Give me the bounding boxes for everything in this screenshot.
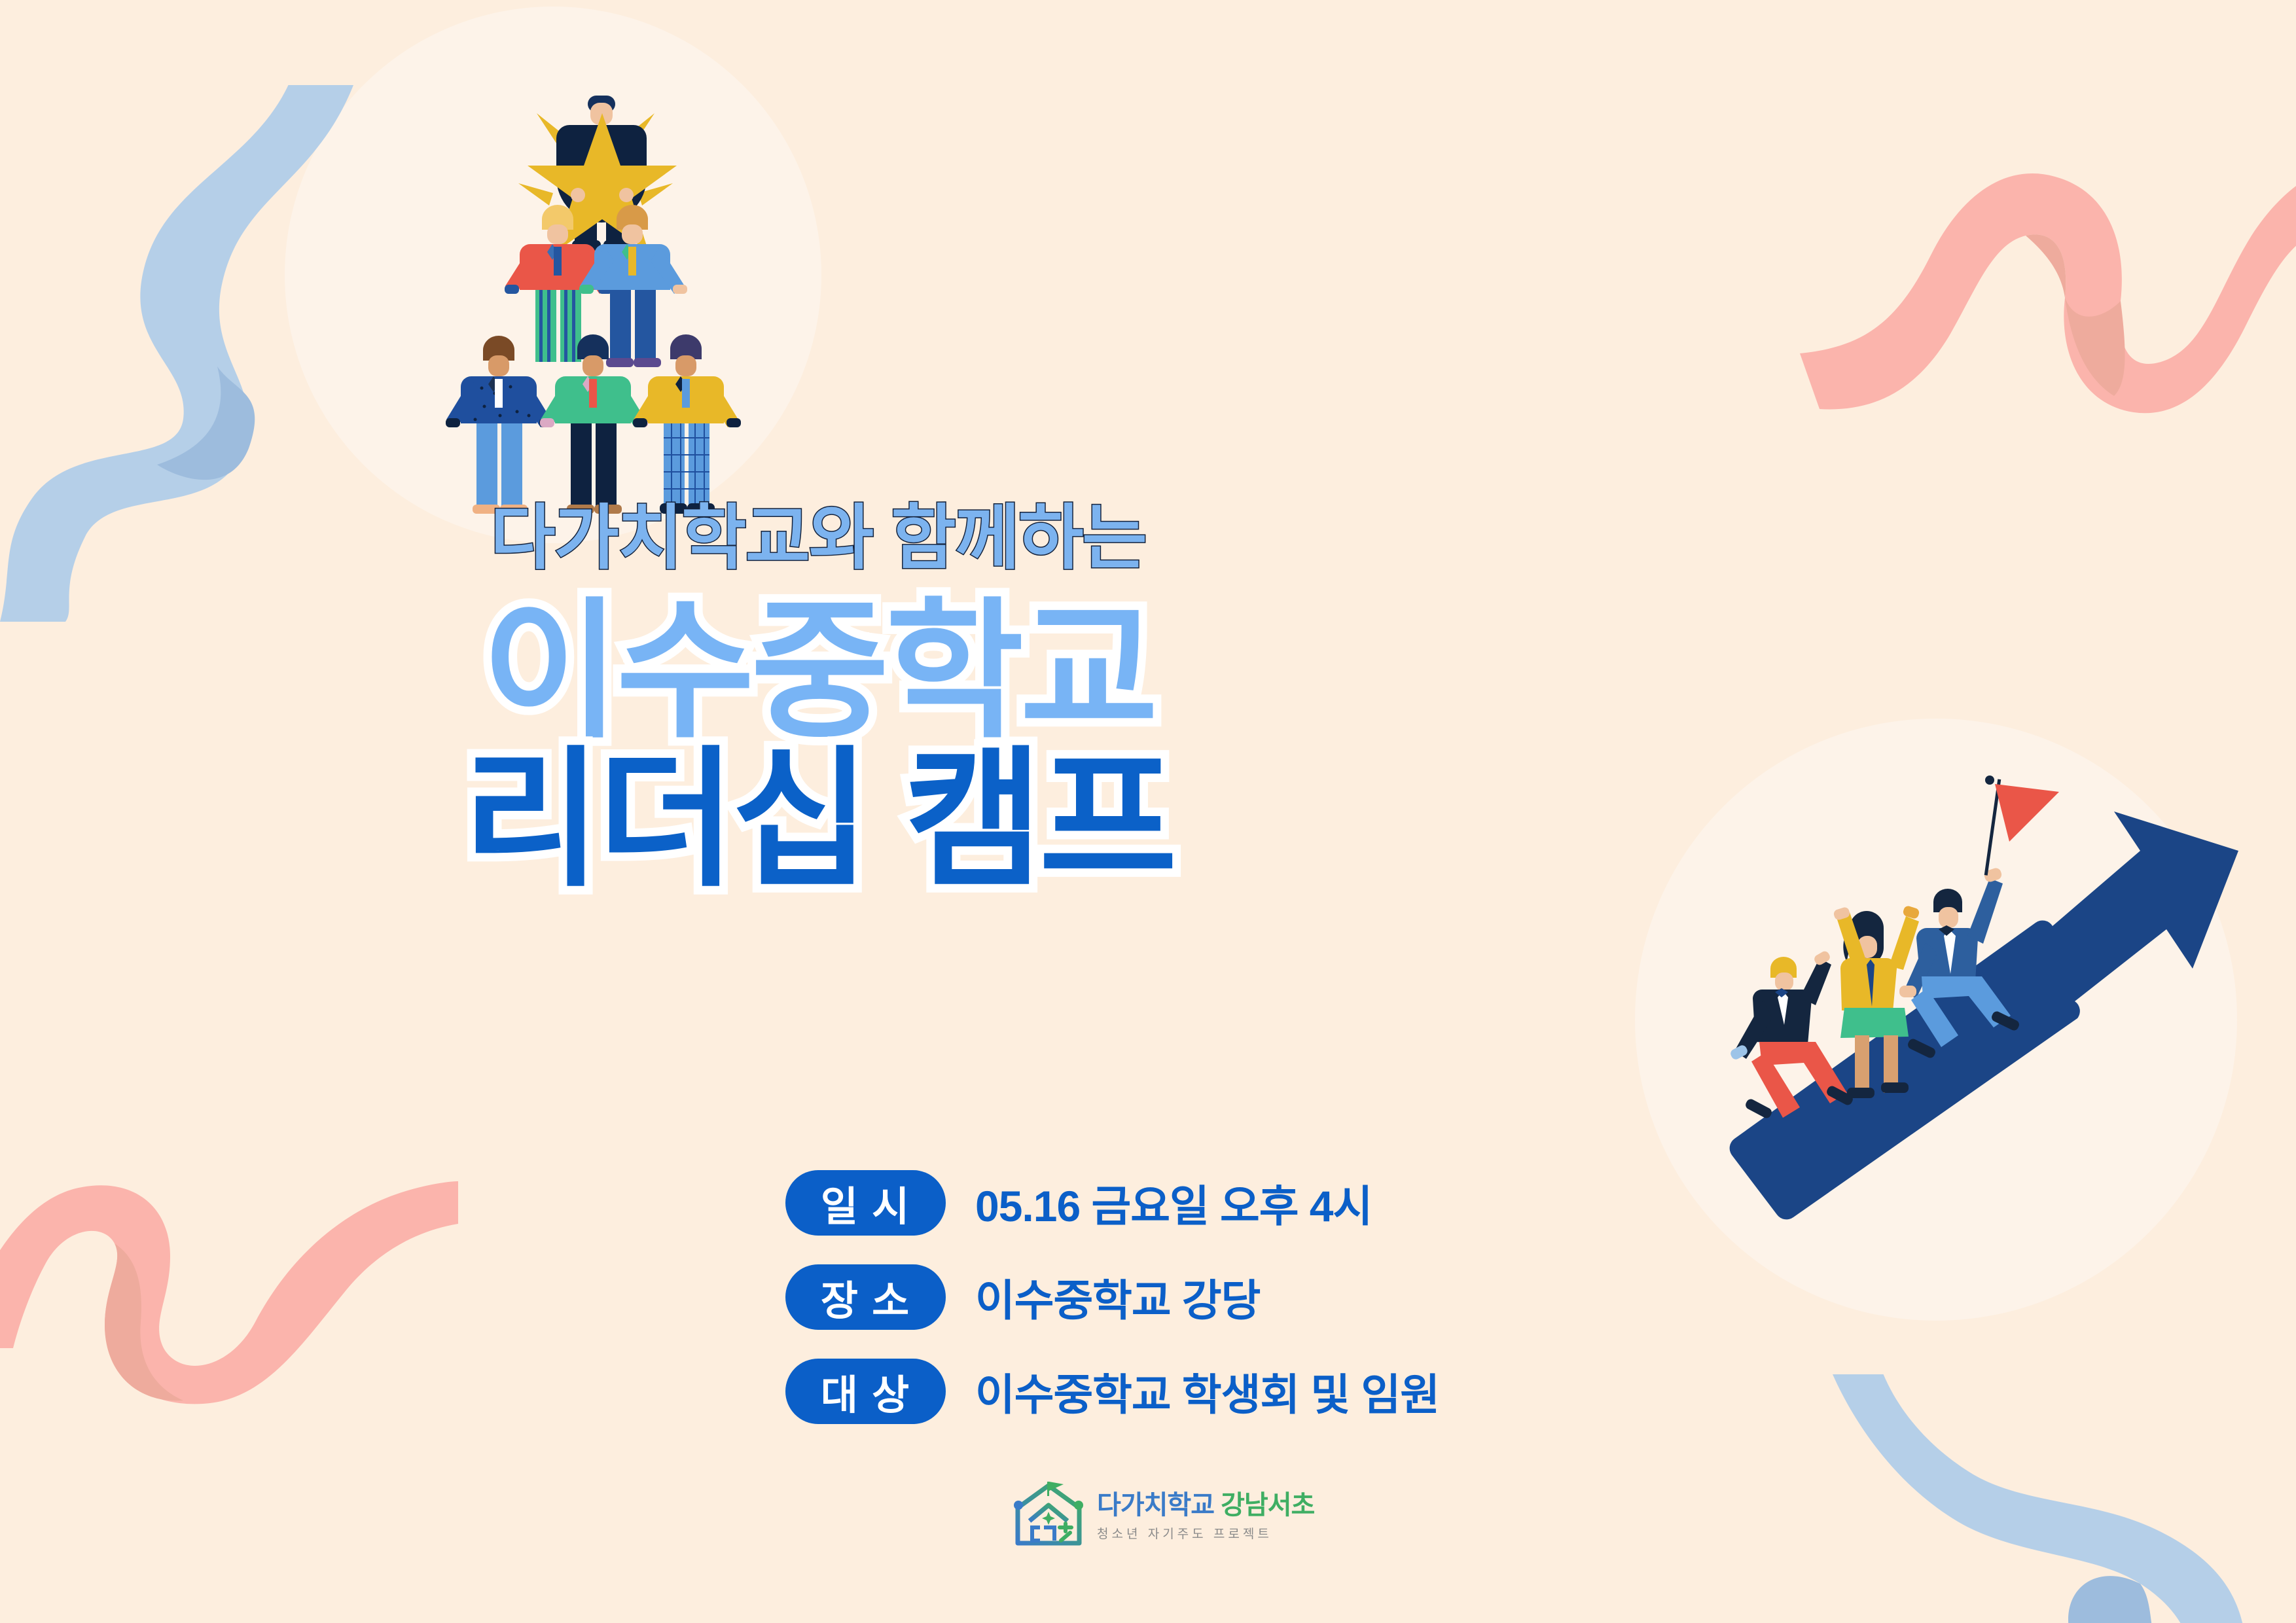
event-info-list: 일 시 05.16 금요일 오후 4시 장 소 이수중학교 강당 대 상 이수중…: [785, 1166, 1439, 1449]
ribbon-pink-bottom-left: [0, 1126, 458, 1414]
flag-icon: [1995, 784, 2059, 842]
title-block: 다가치학교와 함께하는 이수중학교 리더십 캠프: [0, 497, 1636, 899]
info-label-location: 장 소: [785, 1264, 946, 1330]
info-label-audience: 대 상: [785, 1359, 946, 1424]
logo-name-part2: 강남서초: [1221, 1491, 1314, 1520]
poster-subtitle: 다가치학교와 함께하는: [0, 497, 1636, 579]
info-value-location: 이수중학교 강당: [975, 1266, 1260, 1329]
ribbon-pink-top-right: [1734, 157, 2296, 458]
person-bottom-left: [446, 336, 554, 514]
info-row-location: 장 소 이수중학교 강당: [785, 1260, 1439, 1334]
logo-tagline: 청소년 자기주도 프로젝트: [1097, 1524, 1314, 1542]
arrow-team-illustration: [1721, 772, 2245, 1243]
info-row-datetime: 일 시 05.16 금요일 오후 4시: [785, 1166, 1439, 1240]
organization-logo: 다가치학교 강남서초 청소년 자기주도 프로젝트: [1011, 1480, 1314, 1554]
info-label-datetime: 일 시: [785, 1170, 946, 1236]
info-value-audience: 이수중학교 학생회 및 임원: [975, 1360, 1439, 1423]
poster-title-line2: 리더십 캠프: [0, 741, 1636, 898]
ribbon-blue-bottom-right: [1787, 1374, 2296, 1623]
poster-canvas: 다가치학교와 함께하는 이수중학교 리더십 캠프 일 시 05.16 금요일 오…: [0, 0, 2296, 1623]
logo-name: 다가치학교 강남서초: [1097, 1492, 1314, 1518]
team-pyramid-illustration: [412, 62, 779, 546]
house-logo-icon: [1011, 1480, 1086, 1554]
poster-title-line1: 이수중학교: [0, 593, 1636, 749]
info-value-datetime: 05.16 금요일 오후 4시: [975, 1171, 1372, 1234]
info-row-audience: 대 상 이수중학교 학생회 및 임원: [785, 1355, 1439, 1428]
logo-name-part1: 다가치학교: [1097, 1491, 1214, 1520]
person-arrow-1: [1729, 950, 1855, 1120]
